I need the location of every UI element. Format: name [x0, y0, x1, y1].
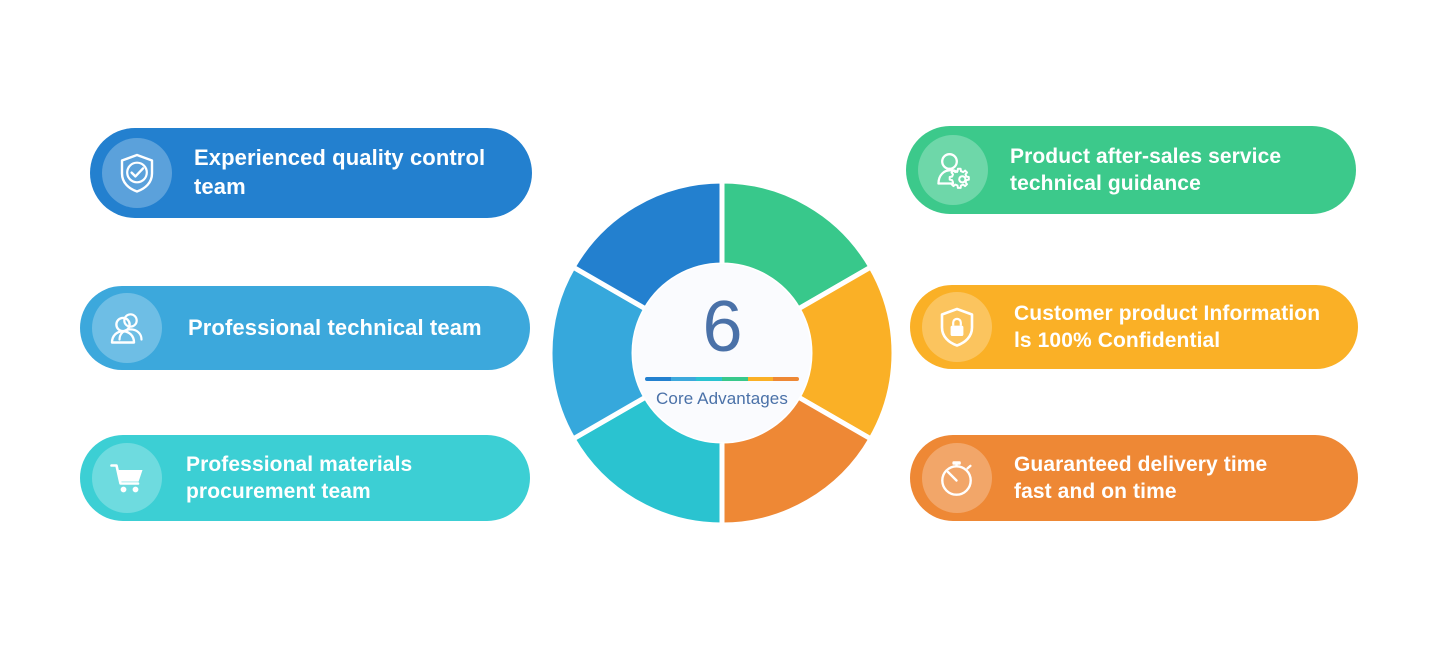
advantage-pill-quality-control[interactable]: Experienced quality control team [90, 128, 532, 218]
users-icon [92, 293, 162, 363]
advantage-pill-procurement[interactable]: Professional materials procurement team [80, 435, 530, 521]
stopwatch-icon [922, 443, 992, 513]
user-gear-icon [918, 135, 988, 205]
divider-seg-green [722, 377, 748, 381]
divider-seg-amber [748, 377, 774, 381]
divider-seg-blue [645, 377, 671, 381]
shield-lock-icon [922, 292, 992, 362]
infographic-canvas: Experienced quality control team Profess… [0, 0, 1440, 650]
shield-check-icon [102, 138, 172, 208]
advantage-pill-confidential[interactable]: Customer product Information ls 100% Con… [910, 285, 1358, 369]
core-advantages-donut-chart: 6 Core Advantages [548, 179, 896, 527]
shopping-cart-icon [92, 443, 162, 513]
advantage-pill-after-sales[interactable]: Product after-sales service technical gu… [906, 126, 1356, 214]
advantage-pill-label: Product after-sales service technical gu… [1010, 143, 1338, 198]
advantage-pill-label: Professional technical team [188, 314, 512, 343]
divider-seg-cyan [696, 377, 722, 381]
divider-seg-orange [773, 377, 799, 381]
advantage-pill-technical-team[interactable]: Professional technical team [80, 286, 530, 370]
advantage-pill-label: Guaranteed delivery time fast and on tim… [1014, 451, 1340, 506]
donut-center-divider [645, 377, 799, 381]
core-advantages-count: 6 [702, 291, 741, 363]
divider-seg-light-blue [671, 377, 697, 381]
advantage-pill-label: Experienced quality control team [194, 144, 514, 201]
donut-center-card: 6 Core Advantages [633, 264, 811, 442]
advantage-pill-delivery[interactable]: Guaranteed delivery time fast and on tim… [910, 435, 1358, 521]
core-advantages-label: Core Advantages [656, 389, 788, 409]
advantage-pill-label: Professional materials procurement team [186, 451, 512, 506]
advantage-pill-label: Customer product Information ls 100% Con… [1014, 300, 1340, 355]
